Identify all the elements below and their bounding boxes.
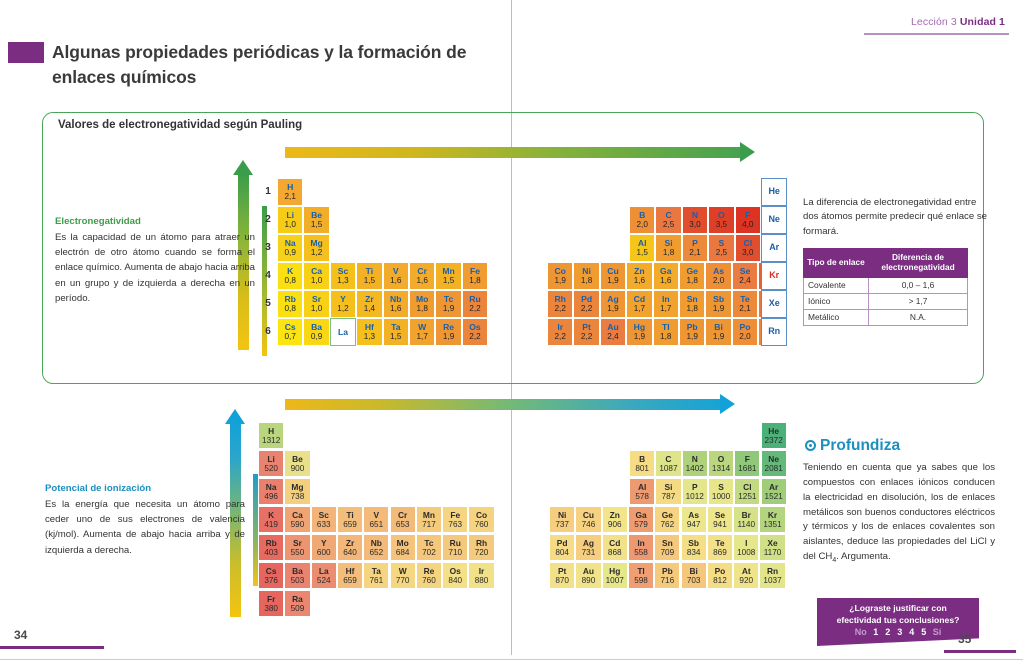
element-cell-I: I1008 — [733, 534, 759, 561]
element-value: 403 — [264, 548, 278, 557]
element-cell-Kr: Kr1351 — [759, 506, 785, 533]
element-cell-Mn: Mn717 — [416, 506, 442, 533]
element-value: 659 — [343, 576, 357, 585]
element-symbol: Y — [321, 539, 327, 548]
element-cell-Pt: Pt870 — [549, 562, 575, 589]
element-cell-In: In558 — [628, 534, 654, 561]
element-cell-Zr: Zr640 — [337, 534, 363, 561]
element-value: 770 — [396, 576, 410, 585]
element-cell-Te: Te869 — [707, 534, 733, 561]
element-value: 1000 — [712, 492, 730, 501]
element-value: 804 — [555, 548, 569, 557]
element-symbol: Fe — [450, 511, 460, 520]
element-symbol: Hf — [346, 567, 355, 576]
element-cell-Pb: Pb716 — [654, 562, 680, 589]
element-value: 709 — [661, 548, 675, 557]
element-symbol: He — [768, 427, 779, 436]
element-cell-Ge: Ge762 — [654, 506, 680, 533]
element-cell-Ni: Ni737 — [549, 506, 575, 533]
element-symbol: Os — [450, 567, 461, 576]
element-value: 579 — [634, 520, 648, 529]
element-cell-At: At920 — [733, 562, 759, 589]
element-cell-S: S1000 — [708, 478, 734, 505]
element-symbol: P — [692, 483, 698, 492]
element-cell-Cu: Cu746 — [575, 506, 601, 533]
element-value: 550 — [291, 548, 305, 557]
element-symbol: Rb — [266, 539, 277, 548]
element-symbol: Mn — [423, 511, 435, 520]
element-symbol: Cl — [743, 483, 751, 492]
element-cell-Li: Li520 — [258, 450, 284, 477]
element-value: 760 — [422, 576, 436, 585]
element-cell-Hf: Hf659 — [337, 562, 363, 589]
element-cell-Ti: Ti659 — [337, 506, 363, 533]
element-cell-Ru: Ru710 — [442, 534, 468, 561]
element-cell-Sn: Sn709 — [654, 534, 680, 561]
element-symbol: Tl — [637, 567, 644, 576]
element-value: 503 — [291, 576, 305, 585]
element-value: 760 — [475, 520, 489, 529]
element-cell-O: O1314 — [708, 450, 734, 477]
element-symbol: La — [319, 567, 329, 576]
element-cell-Sr: Sr550 — [284, 534, 310, 561]
element-symbol: Ti — [346, 511, 353, 520]
element-value: 2081 — [765, 464, 783, 473]
element-symbol: Ga — [635, 511, 646, 520]
element-symbol: Ru — [450, 539, 461, 548]
element-symbol: Ge — [662, 511, 673, 520]
element-value: 600 — [317, 548, 331, 557]
element-cell-Fe: Fe763 — [442, 506, 468, 533]
element-value: 1314 — [712, 464, 730, 473]
element-cell-Xe: Xe1170 — [759, 534, 785, 561]
assessment-line2: efectividad tus conclusiones? — [817, 615, 979, 625]
element-cell-La: La524 — [311, 562, 337, 589]
element-value: 653 — [396, 520, 410, 529]
element-cell-Zn: Zn906 — [602, 506, 628, 533]
folio-rule-right — [944, 650, 1016, 653]
element-value: 496 — [264, 492, 278, 501]
element-value: 1521 — [765, 492, 783, 501]
element-value: 869 — [713, 548, 727, 557]
element-cell-Po: Po812 — [707, 562, 733, 589]
element-cell-Al: Al578 — [629, 478, 655, 505]
element-cell-Na: Na496 — [258, 478, 284, 505]
element-cell-Rh: Rh720 — [468, 534, 494, 561]
element-symbol: Na — [266, 483, 277, 492]
element-value: 906 — [608, 520, 622, 529]
element-value: 1140 — [737, 520, 755, 529]
element-symbol: Cd — [609, 539, 620, 548]
element-cell-P: P1012 — [682, 478, 708, 505]
element-symbol: H — [268, 427, 274, 436]
element-symbol: O — [718, 455, 725, 464]
element-cell-Cr: Cr653 — [390, 506, 416, 533]
element-value: 834 — [687, 548, 701, 557]
element-symbol: Ir — [479, 567, 485, 576]
element-cell-Si: Si787 — [655, 478, 681, 505]
element-value: 659 — [343, 520, 357, 529]
element-cell-Tl: Tl598 — [628, 562, 654, 589]
element-cell-H: H1312 — [258, 422, 284, 449]
element-value: 731 — [582, 548, 596, 557]
element-cell-Ca: Ca590 — [284, 506, 310, 533]
element-cell-Ga: Ga579 — [628, 506, 654, 533]
element-value: 633 — [317, 520, 331, 529]
profundiza-heading: Profundiza — [805, 437, 900, 455]
element-symbol: As — [688, 511, 699, 520]
element-symbol: Al — [638, 483, 646, 492]
element-cell-Br: Br1140 — [733, 506, 759, 533]
element-value: 1037 — [763, 576, 781, 585]
element-value: 1170 — [764, 548, 782, 557]
element-symbol: Pb — [662, 567, 673, 576]
element-symbol: Rh — [476, 539, 487, 548]
element-value: 590 — [291, 520, 305, 529]
element-cell-He: He2372 — [761, 422, 787, 449]
element-cell-Cs: Cs376 — [258, 562, 284, 589]
element-symbol: Co — [476, 511, 487, 520]
element-value: 598 — [634, 576, 648, 585]
element-symbol: B — [639, 455, 645, 464]
element-value: 920 — [739, 576, 753, 585]
element-value: 1007 — [606, 576, 624, 585]
element-symbol: Cr — [398, 511, 407, 520]
element-value: 746 — [582, 520, 596, 529]
element-cell-Fr: Fr380 — [258, 590, 284, 617]
element-symbol: Tc — [424, 539, 433, 548]
element-value: 900 — [291, 464, 305, 473]
element-cell-V: V651 — [363, 506, 389, 533]
element-symbol: Si — [664, 483, 672, 492]
assessment-line1: ¿Lograste justificar con — [817, 603, 979, 613]
element-symbol: Ar — [769, 483, 778, 492]
element-cell-Pd: Pd804 — [549, 534, 575, 561]
element-value: 762 — [661, 520, 675, 529]
element-symbol: W — [399, 567, 407, 576]
element-cell-Cl: Cl1251 — [734, 478, 760, 505]
assessment-scale[interactable]: No12345Sí — [817, 627, 979, 637]
element-value: 812 — [713, 576, 727, 585]
element-symbol: Hg — [609, 567, 620, 576]
element-symbol: Cu — [583, 511, 594, 520]
element-symbol: Ne — [768, 455, 779, 464]
element-value: 868 — [608, 548, 622, 557]
element-value: 1312 — [262, 436, 280, 445]
element-cell-Re: Re760 — [416, 562, 442, 589]
element-cell-Hg: Hg1007 — [602, 562, 628, 589]
element-symbol: I — [745, 539, 747, 548]
element-symbol: Be — [292, 455, 303, 464]
element-symbol: Sn — [662, 539, 673, 548]
assessment-low-label[interactable]: No — [855, 627, 867, 637]
assessment-option-4[interactable]: 4 — [909, 627, 914, 637]
element-symbol: Xe — [767, 539, 777, 548]
element-cell-Ta: Ta761 — [363, 562, 389, 589]
element-cell-B: B801 — [629, 450, 655, 477]
element-symbol: C — [665, 455, 671, 464]
element-symbol: Fr — [267, 595, 275, 604]
element-cell-Tc: Tc702 — [416, 534, 442, 561]
element-value: 801 — [635, 464, 649, 473]
element-value: 651 — [370, 520, 384, 529]
element-value: 509 — [291, 604, 305, 613]
profundiza-title: Profundiza — [820, 437, 900, 454]
element-symbol: Se — [715, 511, 725, 520]
element-value: 717 — [422, 520, 436, 529]
element-value: 947 — [687, 520, 701, 529]
element-value: 703 — [687, 576, 701, 585]
element-symbol: Br — [742, 511, 751, 520]
element-symbol: Kr — [768, 511, 777, 520]
element-cell-C: C1087 — [655, 450, 681, 477]
assessment-option-2[interactable]: 2 — [885, 627, 890, 637]
element-value: 890 — [582, 576, 596, 585]
element-value: 761 — [370, 576, 384, 585]
element-symbol: Ba — [292, 567, 303, 576]
element-symbol: Ni — [558, 511, 566, 520]
assessment-option-1[interactable]: 1 — [873, 627, 878, 637]
element-value: 738 — [291, 492, 305, 501]
assessment-option-5[interactable]: 5 — [921, 627, 926, 637]
element-cell-W: W770 — [390, 562, 416, 589]
element-value: 640 — [343, 548, 357, 557]
element-cell-Sb: Sb834 — [681, 534, 707, 561]
element-symbol: Nb — [371, 539, 382, 548]
element-cell-Ne: Ne2081 — [761, 450, 787, 477]
element-value: 684 — [396, 548, 410, 557]
element-cell-Be: Be900 — [284, 450, 310, 477]
element-value: 1251 — [738, 492, 756, 501]
element-cell-Se: Se941 — [707, 506, 733, 533]
element-cell-Nb: Nb652 — [363, 534, 389, 561]
element-symbol: Sc — [319, 511, 329, 520]
element-symbol: S — [718, 483, 724, 492]
element-value: 1012 — [686, 492, 704, 501]
element-value: 1008 — [737, 548, 755, 557]
element-value: 1351 — [763, 520, 781, 529]
element-value: 1681 — [738, 464, 756, 473]
element-cell-K: K419 — [258, 506, 284, 533]
element-symbol: Ag — [583, 539, 594, 548]
element-value: 2372 — [765, 436, 783, 445]
element-cell-Au: Au890 — [575, 562, 601, 589]
element-symbol: Ca — [292, 511, 303, 520]
element-symbol: Zn — [610, 511, 620, 520]
element-symbol: Te — [715, 539, 724, 548]
element-cell-Ir: Ir880 — [468, 562, 494, 589]
element-symbol: Bi — [689, 567, 697, 576]
element-value: 840 — [448, 576, 462, 585]
element-cell-Ba: Ba503 — [284, 562, 310, 589]
element-symbol: V — [374, 511, 380, 520]
element-cell-Ag: Ag731 — [575, 534, 601, 561]
element-value: 376 — [264, 576, 278, 585]
element-symbol: Ta — [372, 567, 381, 576]
element-symbol: Sr — [293, 539, 302, 548]
element-cell-Os: Os840 — [442, 562, 468, 589]
profundiza-body: Teniendo en cuenta que ya sabes que los … — [803, 461, 995, 567]
element-value: 578 — [635, 492, 649, 501]
element-cell-Bi: Bi703 — [681, 562, 707, 589]
element-value: 520 — [264, 464, 278, 473]
element-symbol: In — [637, 539, 644, 548]
element-symbol: Re — [424, 567, 435, 576]
element-symbol: At — [742, 567, 751, 576]
element-symbol: Li — [267, 455, 274, 464]
element-value: 737 — [555, 520, 569, 529]
assessment-high-label[interactable]: Sí — [933, 627, 942, 637]
assessment-option-3[interactable]: 3 — [897, 627, 902, 637]
element-symbol: Rn — [767, 567, 778, 576]
element-cell-Y: Y600 — [311, 534, 337, 561]
element-value: 1402 — [686, 464, 704, 473]
target-icon — [805, 440, 816, 451]
element-symbol: Pd — [557, 539, 568, 548]
element-symbol: Cs — [266, 567, 277, 576]
page-number-right: 35 — [958, 632, 971, 646]
element-value: 524 — [317, 576, 331, 585]
element-cell-Ar: Ar1521 — [761, 478, 787, 505]
element-value: 880 — [475, 576, 489, 585]
element-cell-F: F1681 — [734, 450, 760, 477]
element-value: 787 — [662, 492, 676, 501]
element-symbol: Mg — [291, 483, 303, 492]
element-value: 763 — [448, 520, 462, 529]
element-symbol: K — [268, 511, 274, 520]
element-symbol: Mo — [397, 539, 409, 548]
element-symbol: Au — [583, 567, 594, 576]
element-value: 941 — [713, 520, 727, 529]
ionization-table: H1312Li520Be900Na496Mg738K419Ca590Sc633T… — [0, 0, 1023, 672]
folio-rule-left — [0, 646, 104, 649]
element-symbol: N — [692, 455, 698, 464]
element-value: 1087 — [659, 464, 677, 473]
element-cell-Rb: Rb403 — [258, 534, 284, 561]
element-value: 710 — [448, 548, 462, 557]
element-symbol: Po — [715, 567, 726, 576]
element-symbol: F — [745, 455, 750, 464]
element-symbol: Ra — [292, 595, 303, 604]
element-value: 716 — [661, 576, 675, 585]
element-symbol: Sb — [688, 539, 699, 548]
element-symbol: Pt — [558, 567, 566, 576]
page-number-left: 34 — [14, 628, 27, 642]
self-assessment-banner[interactable]: ¿Lograste justificar con efectividad tus… — [817, 598, 979, 646]
element-value: 870 — [555, 576, 569, 585]
element-symbol: Zr — [346, 539, 354, 548]
element-value: 720 — [475, 548, 489, 557]
element-cell-Mg: Mg738 — [284, 478, 310, 505]
element-cell-Ra: Ra509 — [284, 590, 310, 617]
element-cell-Mo: Mo684 — [390, 534, 416, 561]
element-cell-N: N1402 — [682, 450, 708, 477]
element-cell-Sc: Sc633 — [311, 506, 337, 533]
element-value: 702 — [422, 548, 436, 557]
textbook-spread: Lección 3 Unidad 1 Algunas propiedades p… — [0, 0, 1023, 672]
element-value: 558 — [634, 548, 648, 557]
element-value: 380 — [264, 604, 278, 613]
element-cell-Cd: Cd868 — [602, 534, 628, 561]
element-cell-As: As947 — [681, 506, 707, 533]
element-cell-Co: Co760 — [468, 506, 494, 533]
element-value: 652 — [370, 548, 384, 557]
element-cell-Rn: Rn1037 — [759, 562, 785, 589]
element-value: 419 — [264, 520, 278, 529]
